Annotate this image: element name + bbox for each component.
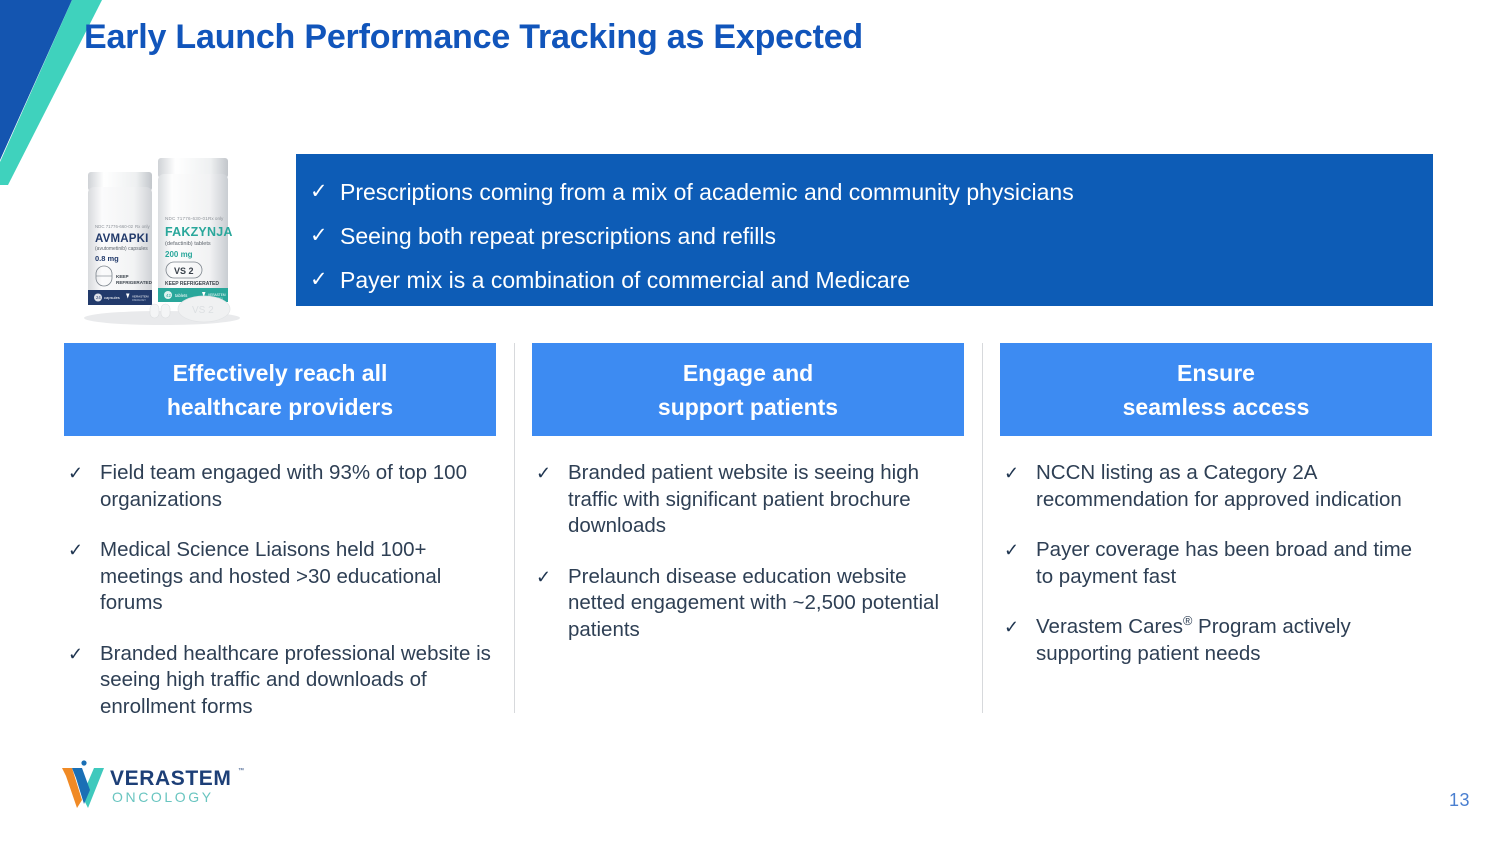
list-item: ✓ NCCN listing as a Category 2A recommen… xyxy=(1004,460,1428,513)
column-header-line1: Effectively reach all xyxy=(173,356,388,390)
check-icon: ✓ xyxy=(536,564,568,591)
column-header: Engage and support patients xyxy=(532,343,964,436)
check-icon: ✓ xyxy=(536,460,568,487)
slide: Early Launch Performance Tracking as Exp… xyxy=(0,0,1500,844)
column-divider-1 xyxy=(496,343,532,723)
svg-text:200 mg: 200 mg xyxy=(165,250,193,259)
svg-text:KEEP REFRIGERATED: KEEP REFRIGERATED xyxy=(165,281,219,287)
list-item: ✓ Branded patient website is seeing high… xyxy=(536,460,960,540)
list-item: ✓ Field team engaged with 93% of top 100… xyxy=(68,460,492,513)
column-header-line2: healthcare providers xyxy=(167,390,393,424)
column-bullet-list: ✓ Branded patient website is seeing high… xyxy=(532,460,964,643)
verastem-v-mark-icon xyxy=(62,760,104,808)
svg-text:Rx only: Rx only xyxy=(208,216,224,221)
svg-text:VERASTEM: VERASTEM xyxy=(132,295,149,299)
check-icon: ✓ xyxy=(68,460,100,487)
check-icon: ✓ xyxy=(1004,614,1036,641)
logo-tagline: ONCOLOGY xyxy=(112,789,214,805)
column-header: Effectively reach all healthcare provide… xyxy=(64,343,496,436)
list-item: ✓ Payer coverage has been broad and time… xyxy=(1004,537,1428,590)
check-icon: ✓ xyxy=(1004,537,1036,564)
column-header-line1: Ensure xyxy=(1177,356,1255,390)
column-divider-2 xyxy=(964,343,1000,723)
svg-text:0.8 mg: 0.8 mg xyxy=(95,254,119,263)
banner-item: ✓ Prescriptions coming from a mix of aca… xyxy=(310,170,1433,214)
column-header-line1: Engage and xyxy=(683,356,813,390)
bottle-fakzynja: NDC 71776-630-01 Rx only FAKZYNJA (defac… xyxy=(158,158,233,302)
bottle-avmapki: NDC 71776-660-02 Rx only AVMAPKI (avutom… xyxy=(88,172,153,305)
list-item-text: Medical Science Liaisons held 100+ meeti… xyxy=(100,537,492,617)
svg-text:KEEP: KEEP xyxy=(116,274,129,279)
column-reach-providers: Effectively reach all healthcare provide… xyxy=(64,343,496,723)
three-column-section: Effectively reach all healthcare provide… xyxy=(64,343,1432,723)
svg-text:VS 2: VS 2 xyxy=(192,305,214,316)
svg-text:VS 2: VS 2 xyxy=(174,266,194,276)
svg-text:AVMAPKI: AVMAPKI xyxy=(95,233,149,245)
svg-text:ONCOLOGY: ONCOLOGY xyxy=(132,299,146,302)
list-item-text: Branded patient website is seeing high t… xyxy=(568,460,960,540)
banner-item: ✓ Payer mix is a combination of commerci… xyxy=(310,258,1433,302)
highlights-banner: ✓ Prescriptions coming from a mix of aca… xyxy=(296,154,1433,306)
divider-line xyxy=(514,343,515,713)
svg-text:24: 24 xyxy=(96,295,101,300)
list-item-text: Prelaunch disease education website nett… xyxy=(568,564,960,644)
page-number: 13 xyxy=(1449,790,1470,811)
check-icon: ✓ xyxy=(68,537,100,564)
list-item: ✓ Branded healthcare professional websit… xyxy=(68,641,492,721)
list-item: ✓ Verastem Cares® Program actively suppo… xyxy=(1004,614,1428,667)
divider-line xyxy=(982,343,983,713)
column-engage-patients: Engage and support patients ✓ Branded pa… xyxy=(532,343,964,723)
list-item-text: Payer coverage has been broad and time t… xyxy=(1036,537,1428,590)
svg-text:Rx only: Rx only xyxy=(135,224,150,229)
svg-text:capsules: capsules xyxy=(104,295,120,300)
svg-text:NDC 71776-660-02: NDC 71776-660-02 xyxy=(95,224,134,229)
svg-text:REFRIGERATED: REFRIGERATED xyxy=(116,280,153,285)
svg-text:42: 42 xyxy=(166,293,171,298)
list-item: ✓ Prelaunch disease education website ne… xyxy=(536,564,960,644)
column-header: Ensure seamless access xyxy=(1000,343,1432,436)
svg-text:tablets: tablets xyxy=(175,293,187,298)
check-icon: ✓ xyxy=(310,170,340,214)
list-item-text: Field team engaged with 93% of top 100 o… xyxy=(100,460,492,513)
list-item: ✓ Medical Science Liaisons held 100+ mee… xyxy=(68,537,492,617)
svg-text:NDC 71776-630-01: NDC 71776-630-01 xyxy=(165,216,208,221)
product-bottles-image: NDC 71776-630-01 Rx only FAKZYNJA (defac… xyxy=(62,132,262,332)
banner-item-text: Payer mix is a combination of commercial… xyxy=(340,258,910,302)
check-icon: ✓ xyxy=(310,214,340,258)
svg-text:FAKZYNJA: FAKZYNJA xyxy=(165,225,233,239)
banner-item-text: Seeing both repeat prescriptions and ref… xyxy=(340,214,776,258)
list-item-text: Verastem Cares® Program actively support… xyxy=(1036,614,1428,667)
banner-item: ✓ Seeing both repeat prescriptions and r… xyxy=(310,214,1433,258)
list-item-text: Branded healthcare professional website … xyxy=(100,641,492,721)
logo-trademark: ™ xyxy=(238,767,244,774)
logo-wordmark: VERASTEM xyxy=(110,767,231,790)
column-header-line2: support patients xyxy=(658,390,838,424)
svg-text:(avutometinib) capsules: (avutometinib) capsules xyxy=(95,246,148,252)
svg-text:(defactinib) tablets: (defactinib) tablets xyxy=(165,241,211,247)
banner-item-text: Prescriptions coming from a mix of acade… xyxy=(340,170,1074,214)
column-bullet-list: ✓ NCCN listing as a Category 2A recommen… xyxy=(1000,460,1432,667)
page-title: Early Launch Performance Tracking as Exp… xyxy=(84,18,863,57)
column-seamless-access: Ensure seamless access ✓ NCCN listing as… xyxy=(1000,343,1432,723)
verastem-oncology-logo: VERASTEM ™ ONCOLOGY xyxy=(60,760,250,808)
check-icon: ✓ xyxy=(1004,460,1036,487)
column-header-line2: seamless access xyxy=(1123,390,1310,424)
check-icon: ✓ xyxy=(68,641,100,668)
list-item-text: NCCN listing as a Category 2A recommenda… xyxy=(1036,460,1428,513)
check-icon: ✓ xyxy=(310,258,340,302)
column-bullet-list: ✓ Field team engaged with 93% of top 100… xyxy=(64,460,496,720)
